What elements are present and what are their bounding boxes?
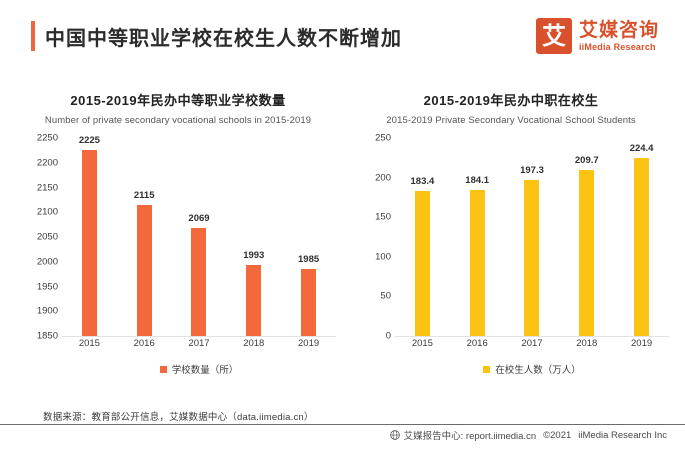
y-axis-tick-label: 2000 bbox=[37, 256, 58, 267]
header-accent-bar bbox=[31, 21, 35, 51]
bar-slot: 183.4 bbox=[398, 138, 447, 336]
chart-subtitle-students: 2015-2019 Private Secondary Vocational S… bbox=[345, 115, 677, 126]
bar[interactable] bbox=[191, 228, 206, 336]
page-header: 中国中等职业学校在校生人数不断增加 艾 艾媒咨询 iiMedia Researc… bbox=[0, 0, 685, 72]
bar[interactable] bbox=[82, 150, 97, 336]
brand-name-en: iiMedia Research bbox=[579, 41, 659, 53]
x-axis-tick-label: 2017 bbox=[507, 338, 556, 349]
bar-value-label: 183.4 bbox=[411, 176, 435, 187]
legend-swatch-icon bbox=[483, 366, 490, 373]
bar-value-label: 209.7 bbox=[575, 155, 599, 166]
legend-label-students: 在校生人数（万人） bbox=[495, 362, 581, 376]
bar-series-students: 183.4184.1197.3209.7224.4 bbox=[395, 138, 669, 336]
bar-value-label: 224.4 bbox=[630, 143, 654, 154]
company-name: iiMedia Research Inc bbox=[578, 430, 667, 441]
bar-slot: 2115 bbox=[120, 138, 169, 336]
bar-value-label: 197.3 bbox=[520, 165, 544, 176]
y-axis-tick-label: 100 bbox=[375, 251, 391, 262]
y-axis-tick-label: 0 bbox=[386, 331, 391, 342]
y-axis-tick-label: 2050 bbox=[37, 232, 58, 243]
bar-slot: 2069 bbox=[174, 138, 223, 336]
x-axis-students: 20152016201720182019 bbox=[395, 338, 669, 349]
y-axis-tick-label: 2100 bbox=[37, 207, 58, 218]
bar-slot: 1985 bbox=[284, 138, 333, 336]
bar-series-schools: 22252115206919931985 bbox=[62, 138, 336, 336]
page-title: 中国中等职业学校在校生人数不断增加 bbox=[45, 22, 402, 51]
brand-name-cn: 艾媒咨询 bbox=[579, 20, 659, 41]
bar[interactable] bbox=[301, 269, 316, 336]
x-axis-tick-label: 2016 bbox=[120, 338, 169, 349]
bar[interactable] bbox=[579, 170, 594, 336]
y-axis-tick-label: 2250 bbox=[37, 133, 58, 144]
bar[interactable] bbox=[524, 180, 539, 336]
x-axis-tick-label: 2019 bbox=[284, 338, 333, 349]
data-source-note: 数据来源：教育部公开信息，艾媒数据中心（data.iimedia.cn） bbox=[43, 409, 314, 423]
bar-value-label: 1985 bbox=[298, 254, 319, 265]
bar-slot: 2225 bbox=[65, 138, 114, 336]
legend-schools: 学校数量（所） bbox=[62, 362, 336, 376]
globe-icon bbox=[390, 430, 400, 440]
copyright-year: ©2021 bbox=[543, 430, 571, 441]
footer-meta: 艾媒报告中心: report.iimedia.cn ©2021 iiMedia … bbox=[390, 428, 667, 442]
y-axis-tick-label: 1850 bbox=[37, 331, 58, 342]
y-axis-students: 250200150100500 bbox=[351, 138, 391, 336]
plot-area-schools: 22252115206919931985 bbox=[62, 138, 336, 337]
legend-label-schools: 学校数量（所） bbox=[172, 362, 239, 376]
chart-title-schools: 2015-2019年民办中等职业学校数量 bbox=[12, 90, 344, 109]
bar[interactable] bbox=[246, 265, 261, 336]
y-axis-tick-label: 1900 bbox=[37, 306, 58, 317]
bar[interactable] bbox=[470, 190, 485, 336]
bar[interactable] bbox=[415, 191, 430, 336]
x-axis-tick-label: 2018 bbox=[229, 338, 278, 349]
y-axis-tick-label: 250 bbox=[375, 133, 391, 144]
bar-slot: 224.4 bbox=[617, 138, 666, 336]
bar-slot: 197.3 bbox=[507, 138, 556, 336]
x-axis-tick-label: 2016 bbox=[453, 338, 502, 349]
y-axis-tick-label: 2150 bbox=[37, 182, 58, 193]
legend-students: 在校生人数（万人） bbox=[395, 362, 669, 376]
brand-logo-text: 艾媒咨询 iiMedia Research bbox=[579, 20, 659, 53]
brand-logo: 艾 艾媒咨询 iiMedia Research bbox=[536, 18, 659, 54]
y-axis-schools: 225022002150210020502000195019001850 bbox=[18, 138, 58, 336]
x-axis-tick-label: 2017 bbox=[174, 338, 223, 349]
chart-panel-students: 2015-2019年民办中职在校生 2015-2019 Private Seco… bbox=[345, 86, 677, 386]
bar[interactable] bbox=[634, 158, 649, 336]
bar-value-label: 2225 bbox=[79, 135, 100, 146]
chart-title-students: 2015-2019年民办中职在校生 bbox=[345, 90, 677, 109]
x-axis-tick-label: 2019 bbox=[617, 338, 666, 349]
bar[interactable] bbox=[137, 205, 152, 336]
bar-value-label: 184.1 bbox=[465, 175, 489, 186]
y-axis-tick-label: 2200 bbox=[37, 157, 58, 168]
y-axis-tick-label: 200 bbox=[375, 172, 391, 183]
plot-schools: 225022002150210020502000195019001850 222… bbox=[12, 138, 344, 348]
plot-students: 250200150100500 183.4184.1197.3209.7224.… bbox=[345, 138, 677, 348]
y-axis-tick-label: 150 bbox=[375, 212, 391, 223]
chart-panel-schools: 2015-2019年民办中等职业学校数量 Number of private s… bbox=[12, 86, 344, 386]
iimedia-logo-icon: 艾 bbox=[536, 18, 572, 54]
x-axis-tick-label: 2015 bbox=[398, 338, 447, 349]
bar-value-label: 2069 bbox=[188, 213, 209, 224]
footer-divider bbox=[0, 424, 685, 425]
x-axis-schools: 20152016201720182019 bbox=[62, 338, 336, 349]
legend-swatch-icon bbox=[160, 366, 167, 373]
charts-container: 2015-2019年民办中等职业学校数量 Number of private s… bbox=[0, 86, 685, 386]
bar-value-label: 1993 bbox=[243, 250, 264, 261]
y-axis-tick-label: 50 bbox=[380, 291, 391, 302]
report-center-label: 艾媒报告中心: report.iimedia.cn bbox=[404, 428, 537, 442]
x-axis-tick-label: 2015 bbox=[65, 338, 114, 349]
bar-value-label: 2115 bbox=[134, 190, 155, 201]
bar-slot: 1993 bbox=[229, 138, 278, 336]
bar-slot: 209.7 bbox=[562, 138, 611, 336]
x-axis-tick-label: 2018 bbox=[562, 338, 611, 349]
chart-subtitle-schools: Number of private secondary vocational s… bbox=[12, 115, 344, 126]
bar-slot: 184.1 bbox=[453, 138, 502, 336]
plot-area-students: 183.4184.1197.3209.7224.4 bbox=[395, 138, 669, 337]
y-axis-tick-label: 1950 bbox=[37, 281, 58, 292]
